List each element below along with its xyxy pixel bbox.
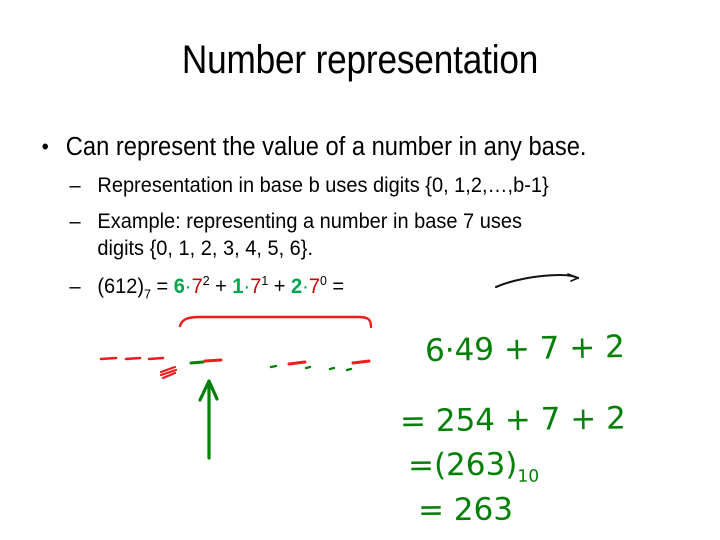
red-tick-marks-icon	[289, 362, 305, 364]
term1-exponent: 2	[203, 273, 210, 288]
handwriting-line-2: = 254 + 7 + 2	[400, 400, 626, 439]
red-tick-marks-icon	[205, 360, 221, 361]
equation-lhs: (612)	[97, 274, 144, 298]
term3-base: 7	[309, 274, 320, 298]
green-tick-icon	[306, 367, 310, 368]
handwriting-line-1: 6·49 + 7 + 2	[425, 329, 626, 369]
handwriting-line-3: =(263)10	[408, 446, 539, 488]
bullet-level2-example-line1: Example: representing a number in base 7…	[97, 209, 522, 233]
term2-exponent: 1	[261, 273, 268, 288]
green-tick-icon	[347, 369, 351, 370]
equation-plus-1: +	[210, 274, 233, 298]
term2-coefficient: 1	[232, 274, 243, 298]
term3-coefficient: 2	[291, 274, 302, 298]
term1-base: 7	[192, 274, 203, 298]
handwriting-line-4: = 263	[418, 492, 513, 529]
equation-plus-2: +	[268, 274, 291, 298]
equation-lhs-subscript: 7	[144, 286, 151, 301]
red-underline-digits-icon	[149, 358, 163, 359]
bullet-marker-dash: –	[69, 208, 80, 235]
handwriting-line-3-equals: =	[408, 447, 434, 483]
equation-equals-2: =	[327, 274, 344, 298]
slide-canvas: Number representation • Can represent th…	[0, 0, 720, 540]
green-tick-icon	[271, 366, 276, 367]
green-arrow-up-head-icon	[200, 381, 217, 400]
bullet-level2-example: – Example: representing a number in base…	[36, 208, 654, 262]
bullet-level2-example-line2: digits {0, 1, 2, 3, 4, 5, 6}.	[97, 235, 653, 262]
term2-base: 7	[250, 274, 261, 298]
bullet-marker-dash: –	[69, 273, 80, 300]
bullet-level1: • Can represent the value of a number in…	[36, 132, 654, 163]
green-tick-icon	[191, 362, 203, 363]
red-underline-digits-icon	[126, 358, 140, 359]
bullet-level2-equation: – (612)7 = 6·72 + 1·71 + 2·70 =	[36, 273, 654, 300]
term3-exponent: 0	[320, 273, 327, 288]
red-underline-digits-icon	[101, 358, 116, 359]
red-tick-marks-icon	[353, 361, 369, 363]
page-title: Number representation	[43, 36, 677, 84]
bullet-level1-text: Can represent the value of a number in a…	[66, 133, 587, 161]
bullet-marker-dash: –	[69, 172, 80, 199]
term1-coefficient: 6	[174, 274, 185, 298]
handwriting-line-3-subscript: 10	[517, 467, 539, 487]
equation-equals-1: =	[151, 274, 174, 298]
green-tick-icon	[330, 368, 334, 369]
bullet-marker-dot: •	[42, 131, 49, 162]
handwriting-line-3-value: (263)	[434, 447, 518, 484]
bullet-level2-representation: – Representation in base b uses digits {…	[36, 172, 654, 199]
equation-expression: (612)7 = 6·72 + 1·71 + 2·70 =	[97, 274, 344, 298]
bullet-level2-text: Representation in base b uses digits {0,…	[97, 173, 548, 197]
red-arc-bracket-icon	[180, 317, 371, 327]
slide-body: • Can represent the value of a number in…	[36, 132, 700, 300]
red-scribble-icon	[161, 367, 176, 378]
